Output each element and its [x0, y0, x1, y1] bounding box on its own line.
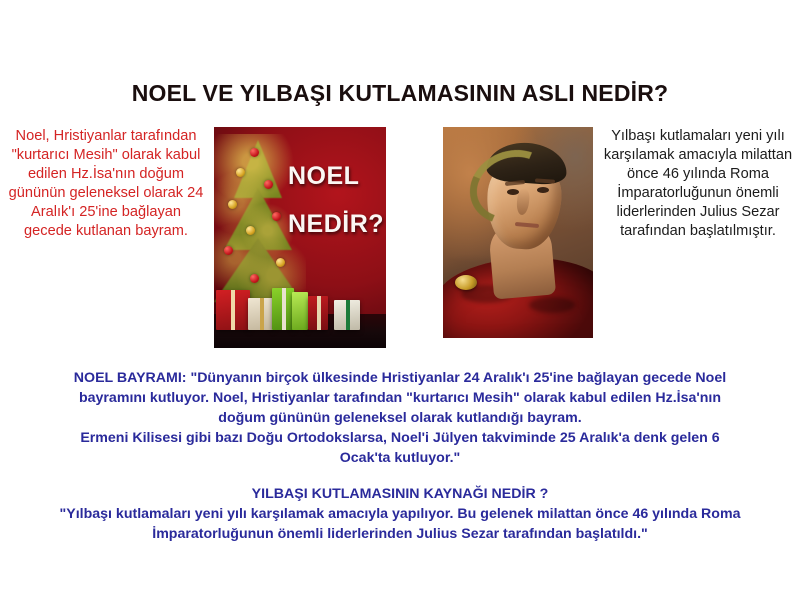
- left-caption-text: Noel, Hristiyanlar tarafından "kurtarıcı…: [8, 127, 204, 241]
- yilbasi-paragraph-line-2: İmparatorluğunun önemli liderlerinden Ju…: [0, 525, 800, 545]
- gift-box: [308, 296, 328, 330]
- noel-paragraph-line-3: doğum gününün geleneksel olarak kutlandı…: [0, 409, 800, 429]
- gift-box: [292, 292, 308, 330]
- caesar-image: [443, 127, 593, 338]
- noel-overlay-line-1: NOEL: [288, 153, 386, 201]
- yilbasi-paragraph-line-1: "Yılbaşı kutlamaları yeni yılı karşılama…: [0, 505, 800, 525]
- page-title: NOEL VE YILBAŞI KUTLAMASININ ASLI NEDİR?: [0, 80, 800, 107]
- yilbasi-heading: YILBAŞI KUTLAMASININ KAYNAĞI NEDİR ?: [0, 485, 800, 505]
- content-band: Noel, Hristiyanlar tarafından "kurtarıcı…: [0, 127, 800, 349]
- yilbasi-kaynagi-paragraph: YILBAŞI KUTLAMASININ KAYNAĞI NEDİR ? "Yı…: [0, 485, 800, 545]
- noel-paragraph-line-1: NOEL BAYRAMI: "Dünyanın birçok ülkesinde…: [0, 369, 800, 389]
- gift-box: [272, 288, 294, 330]
- noel-paragraph-line-5: Ocak'ta kutluyor.": [0, 449, 800, 469]
- noel-bayrami-paragraph: NOEL BAYRAMI: "Dünyanın birçok ülkesinde…: [0, 369, 800, 468]
- noel-image-overlay-text: NOEL NEDİR?: [288, 153, 386, 248]
- noel-paragraph-line-4: Ermeni Kilisesi gibi bazı Doğu Ortodoksl…: [0, 429, 800, 449]
- slide-canvas: NOEL VE YILBAŞI KUTLAMASININ ASLI NEDİR?…: [0, 0, 800, 600]
- noel-image: NOEL NEDİR?: [214, 127, 386, 348]
- gift-box: [334, 300, 360, 330]
- gift-box: [216, 290, 250, 330]
- right-caption-text: Yılbaşı kutlamaları yeni yılı karşılamak…: [600, 127, 796, 241]
- noel-paragraph-line-2: bayramını kutluyor. Noel, Hristiyanlar t…: [0, 389, 800, 409]
- gift-box: [248, 298, 274, 330]
- caesar-shoulder-brooch: [455, 275, 477, 290]
- noel-overlay-line-2: NEDİR?: [288, 201, 386, 249]
